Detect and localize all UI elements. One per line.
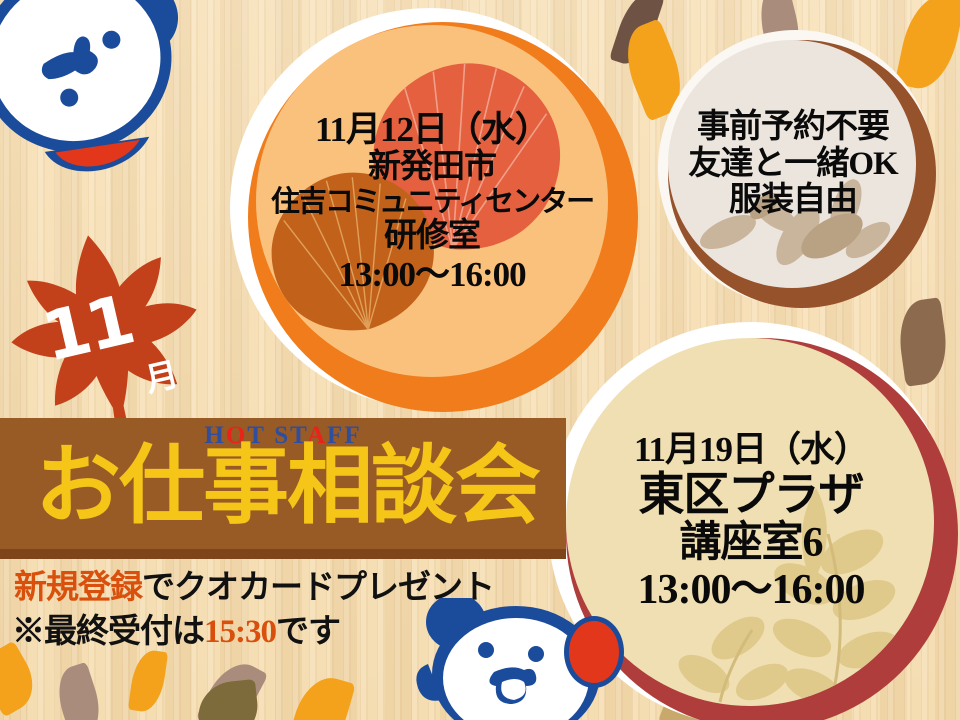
session-1-city: 新発田市 xyxy=(368,149,496,186)
session-1-text: 11月12日（水） 新発田市 住吉コミュニティセンター 研修室 13:00〜16… xyxy=(248,22,616,382)
info-line-1: 事前予約不要 xyxy=(697,109,889,146)
info-bubble-text: 事前予約不要 友達と一緒OK 服装自由 xyxy=(668,40,918,288)
page-title: お仕事相談会 xyxy=(8,443,566,529)
note-suffix: です xyxy=(276,614,340,650)
session-1-date: 11月12日（水） xyxy=(315,110,549,149)
session-1-time: 13:00〜16:00 xyxy=(338,255,525,294)
session-2-time: 13:00〜16:00 xyxy=(638,567,865,614)
bg-leaf-icon xyxy=(50,662,108,720)
session-1-room: 研修室 xyxy=(384,218,480,255)
note-prefix: ※最終受付は xyxy=(12,614,204,650)
mascot-bottom-center xyxy=(398,598,648,720)
month-number: 11 xyxy=(37,287,139,373)
bg-leaf-icon xyxy=(195,679,261,720)
bg-leaf-icon xyxy=(0,641,44,718)
info-line-3: 服装自由 xyxy=(729,182,857,219)
note-highlight: 新規登録 xyxy=(14,570,142,606)
note-last-reception: ※最終受付は15:30です xyxy=(12,604,340,652)
mascot-character-icon xyxy=(0,0,202,198)
poster-canvas: 11月12日（水） 新発田市 住吉コミュニティセンター 研修室 13:00〜16… xyxy=(0,0,960,720)
mascot-top-left xyxy=(0,0,202,198)
bg-leaf-icon xyxy=(128,648,168,714)
session-2-date: 11月19日（水） xyxy=(634,430,868,469)
mascot-character-balloon-icon xyxy=(398,598,648,720)
note-time: 15:30 xyxy=(204,614,276,650)
title-banner-shadow xyxy=(0,549,566,559)
info-line-2: 友達と一緒OK xyxy=(688,146,897,183)
session-1-venue: 住吉コミュニティセンター xyxy=(271,186,593,218)
info-bubble[interactable]: 事前予約不要 友達と一緒OK 服装自由 xyxy=(668,40,936,308)
bg-leaf-icon xyxy=(286,671,356,720)
month-badge: 11 月 xyxy=(4,228,204,424)
session-2-venue: 東区プラザ xyxy=(639,469,864,521)
session-2-room: 講座室6 xyxy=(679,520,822,567)
month-unit: 月 xyxy=(140,347,183,401)
